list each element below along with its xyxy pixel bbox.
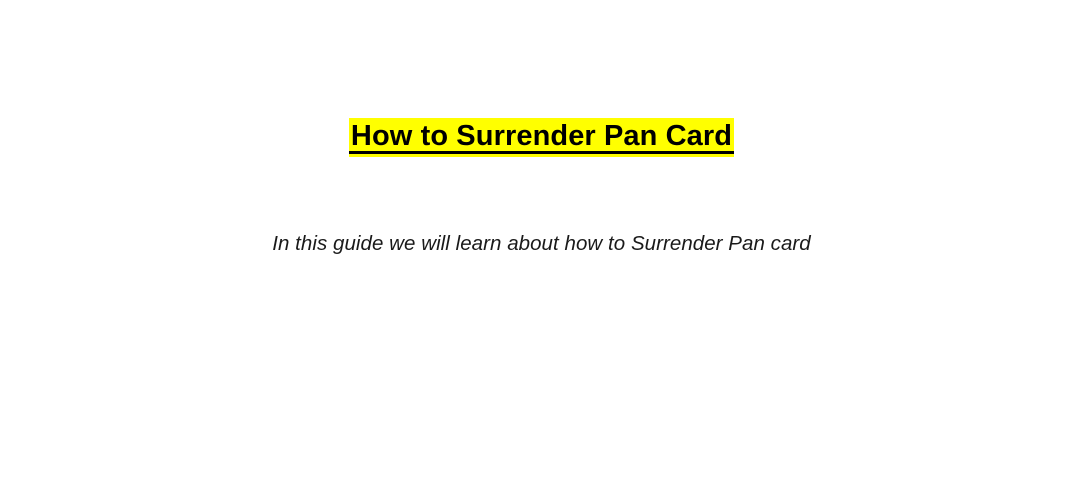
page-title: How to Surrender Pan Card [349, 118, 734, 157]
document-page: How to Surrender Pan Card In this guide … [0, 0, 1083, 479]
page-subtitle: In this guide we will learn about how to… [272, 233, 811, 256]
title-container: How to Surrender Pan Card [0, 118, 1083, 157]
subtitle-container: In this guide we will learn about how to… [0, 233, 1083, 256]
